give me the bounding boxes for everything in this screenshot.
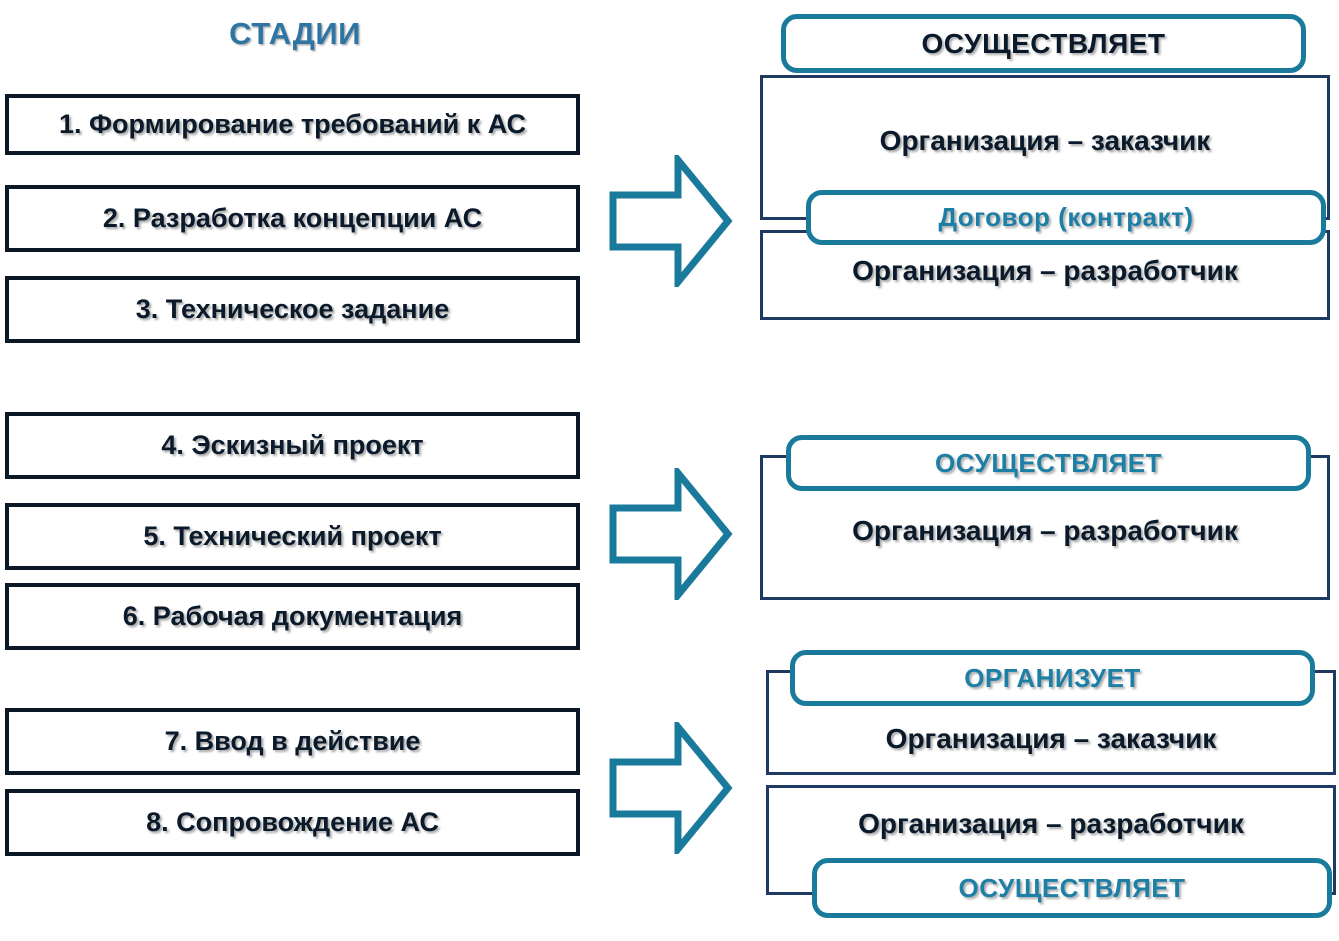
pill-verb-top-1[interactable]: ОСУЩЕСТВЛЯЕТ [781, 14, 1306, 73]
stage-box-2[interactable]: 2. Разработка концепции АС [5, 185, 580, 252]
pill-verb-top-3-label: ОРГАНИЗУЕТ [964, 663, 1141, 694]
stage-box-1[interactable]: 1. Формирование требований к АС [5, 94, 580, 155]
role-label-customer-3: Организация – заказчик [766, 723, 1336, 755]
role-label-developer-1: Организация – разработчик [760, 255, 1330, 287]
pill-verb-top-3[interactable]: ОРГАНИЗУЕТ [790, 650, 1315, 706]
stage-box-8[interactable]: 8. Сопровождение АС [5, 789, 580, 856]
pill-contract-label: Договор (контракт) [938, 202, 1193, 233]
pill-verb-top-1-label: ОСУЩЕСТВЛЯЕТ [922, 28, 1166, 60]
diagram-canvas: СТАДИИ 1. Формирование требований к АС 2… [0, 0, 1339, 941]
role-label-developer-2: Организация – разработчик [760, 515, 1330, 547]
pill-verb-top-2[interactable]: ОСУЩЕСТВЛЯЕТ [786, 435, 1311, 491]
right-block-arrow-icon-2 [608, 468, 733, 600]
pill-contract[interactable]: Договор (контракт) [806, 190, 1326, 245]
stage-box-5[interactable]: 5. Технический проект [5, 503, 580, 570]
stage-box-6[interactable]: 6. Рабочая документация [5, 583, 580, 650]
page-title: СТАДИИ [5, 16, 585, 52]
role-label-developer-3: Организация – разработчик [766, 808, 1336, 840]
pill-verb-bottom-3-label: ОСУЩЕСТВЛЯЕТ [959, 873, 1186, 904]
right-block-arrow-icon-1 [608, 155, 733, 287]
stage-box-7[interactable]: 7. Ввод в действие [5, 708, 580, 775]
stage-box-4[interactable]: 4. Эскизный проект [5, 412, 580, 479]
pill-verb-bottom-3[interactable]: ОСУЩЕСТВЛЯЕТ [812, 858, 1332, 918]
role-label-customer-1: Организация – заказчик [760, 125, 1330, 157]
stage-box-3[interactable]: 3. Техническое задание [5, 276, 580, 343]
pill-verb-top-2-label: ОСУЩЕСТВЛЯЕТ [935, 448, 1162, 479]
right-block-arrow-icon-3 [608, 722, 733, 854]
